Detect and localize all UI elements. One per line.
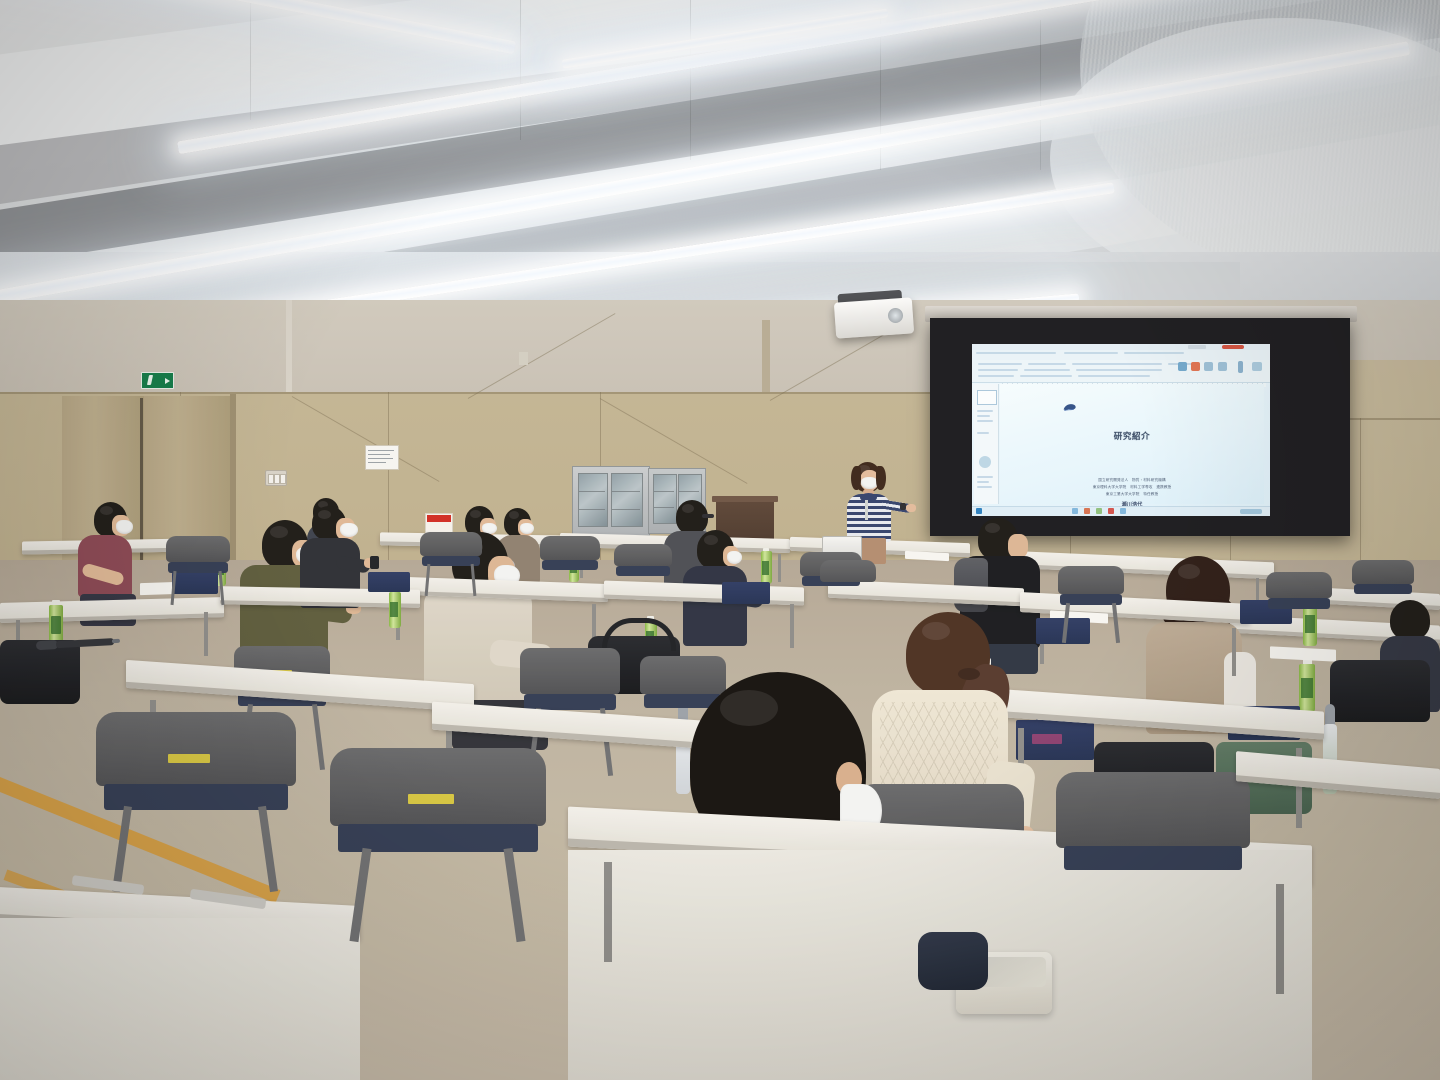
slide-thumbnail[interactable] [977, 390, 997, 405]
green-tea-bottle[interactable] [1298, 658, 1316, 712]
stacking-chair[interactable] [1266, 572, 1332, 646]
presenter-collar [860, 493, 877, 502]
watch-icon [900, 503, 906, 510]
presenter-hair-side [851, 466, 861, 490]
green-tea-bottle[interactable] [760, 548, 772, 584]
stacking-chair[interactable] [614, 544, 672, 606]
lanyard [865, 500, 868, 520]
navy-tote-bag[interactable] [1016, 720, 1094, 760]
stacking-chair[interactable] [1056, 772, 1250, 932]
green-tea-bottle[interactable] [388, 588, 401, 628]
navy-tote-bag[interactable] [368, 572, 410, 592]
stacking-chair[interactable] [1058, 566, 1124, 644]
table-leg [778, 554, 781, 582]
presenter-hand [906, 504, 916, 512]
navy-tote-bag[interactable] [722, 582, 770, 604]
stacking-chair[interactable] [96, 712, 296, 892]
light-switch-panel[interactable] [265, 470, 287, 486]
lecture-hall-photo: 研究紹介 国立研究開発法人 物質・材料研究機構 東京理科大学大学院 材料工学専攻… [0, 0, 1440, 1080]
slide-canvas: 研究紹介 国立研究開発法人 物質・材料研究機構 東京理科大学大学院 材料工学専攻… [1000, 384, 1264, 504]
table-leg [1276, 884, 1284, 994]
folding-table-surface [0, 918, 360, 1080]
smartphone-icon[interactable] [370, 556, 379, 569]
face-mask [116, 520, 133, 534]
slide-affiliation-3: 東京工業大学大学院 特任教授 [1000, 492, 1264, 497]
slide-title: 研究紹介 [1000, 430, 1264, 442]
wall-speaker [519, 352, 528, 365]
slide-affiliation-2: 東京理科大学大学院 材料工学専攻 連携教授 [1000, 485, 1264, 490]
stacking-chair[interactable] [596, 844, 796, 1080]
presenter-hair-side [876, 466, 886, 490]
institute-logo [1062, 402, 1078, 413]
stacking-chair[interactable] [1352, 560, 1414, 630]
stacking-chair[interactable] [820, 560, 876, 620]
wall-notice-sign [365, 445, 399, 470]
exit-sign [141, 372, 174, 389]
rolled-cloth[interactable] [918, 932, 988, 990]
storage-cabinet[interactable] [572, 466, 650, 536]
podium-top [712, 496, 778, 502]
stacking-chair[interactable] [420, 532, 482, 598]
slide-affiliation-1: 国立研究開発法人 物質・材料研究機構 [1000, 478, 1264, 483]
stacking-chair[interactable] [540, 536, 600, 600]
projection-screen-image: 研究紹介 国立研究開発法人 物質・材料研究機構 東京理科大学大学院 材料工学専攻… [972, 344, 1270, 516]
stacking-chair[interactable] [330, 748, 546, 944]
stacking-chair[interactable] [166, 536, 230, 606]
black-bag[interactable] [1330, 660, 1430, 722]
attendee-top [683, 566, 747, 646]
glasses-icon [702, 514, 714, 518]
table-leg [790, 604, 794, 648]
slide-thumbnail-pane[interactable] [974, 384, 999, 504]
table-leg [204, 612, 208, 656]
table-leg [1232, 628, 1236, 676]
face-mask [727, 551, 742, 564]
face-mask [340, 523, 358, 537]
